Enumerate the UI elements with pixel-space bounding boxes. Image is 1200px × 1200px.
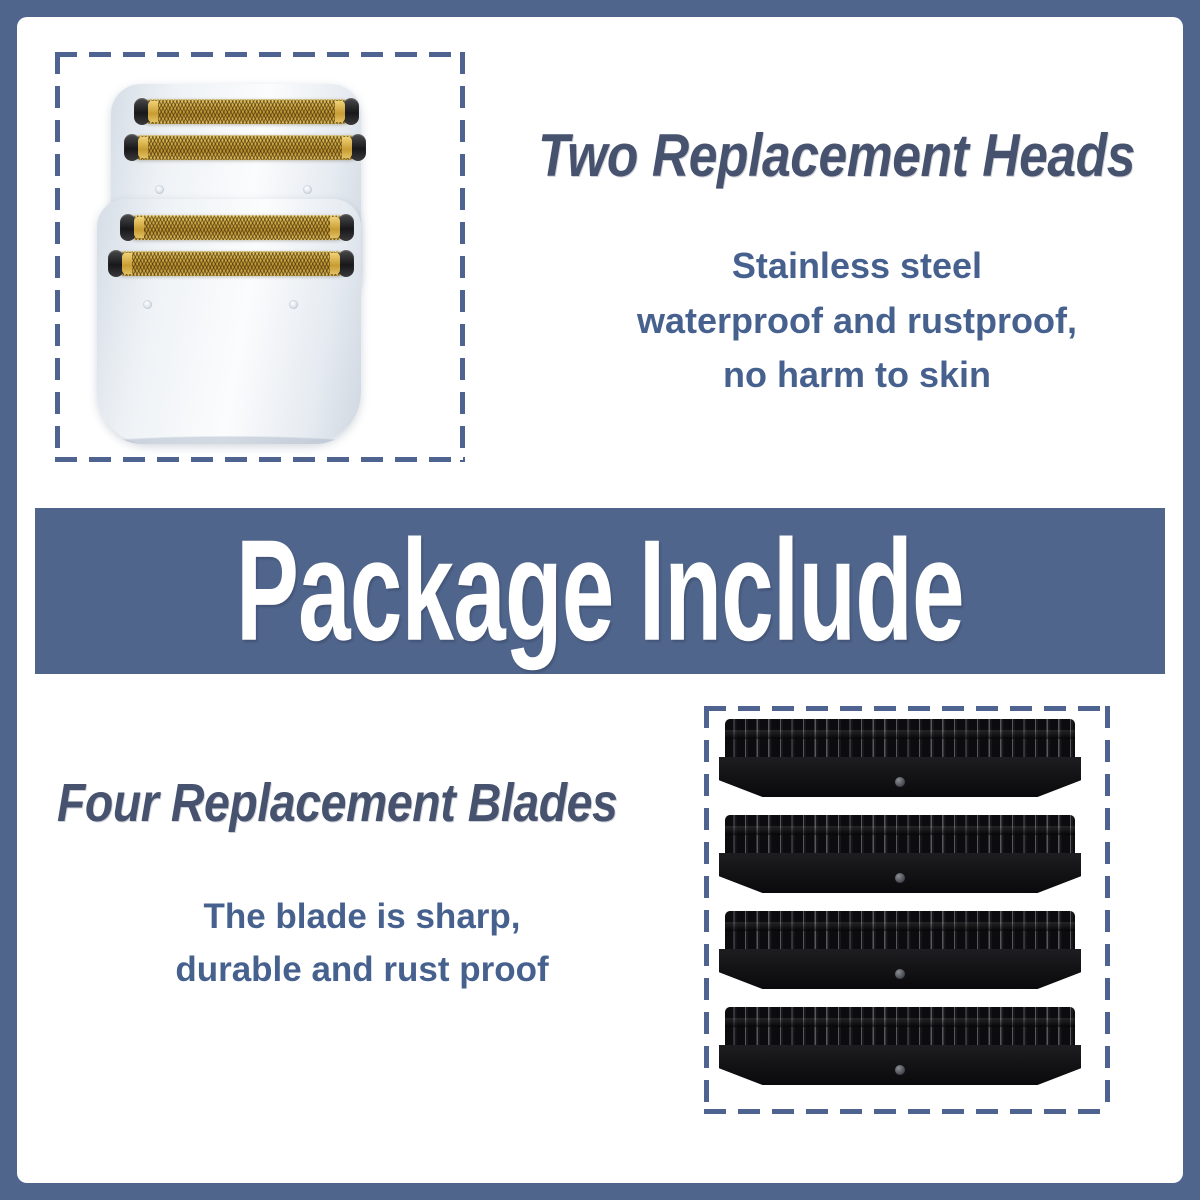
blade-teeth bbox=[725, 815, 1075, 857]
package-include-band: Package Include bbox=[35, 508, 1165, 674]
description-four-replacement-blades: The blade is sharp, durable and rust pro… bbox=[62, 890, 662, 996]
blade-pin bbox=[895, 969, 905, 979]
foil-cap-right bbox=[335, 101, 345, 122]
foil-cap-left bbox=[138, 137, 148, 158]
description-two-replacement-heads: Stainless steel waterproof and rustproof… bbox=[537, 239, 1177, 403]
gold-foil-strip bbox=[139, 99, 354, 124]
head-screw bbox=[155, 185, 164, 194]
description-line: The blade is sharp, bbox=[62, 890, 662, 943]
replacement-blades-product-image bbox=[719, 719, 1097, 1101]
cutter-blade bbox=[719, 815, 1081, 897]
head-screw bbox=[303, 185, 312, 194]
description-line: no harm to skin bbox=[537, 348, 1177, 403]
blade-teeth bbox=[725, 719, 1075, 761]
content-canvas: Two Replacement Heads Stainless steel wa… bbox=[17, 17, 1183, 1183]
blade-pin bbox=[895, 1065, 905, 1075]
gold-foil-strip bbox=[113, 251, 349, 276]
description-line: Stainless steel bbox=[537, 239, 1177, 294]
gold-foil-strip bbox=[125, 215, 349, 240]
foil-cap-left bbox=[134, 217, 144, 238]
cutter-blade bbox=[719, 719, 1081, 801]
band-title: Package Include bbox=[236, 519, 964, 663]
foil-cap-left bbox=[122, 253, 132, 274]
foil-cap-right bbox=[342, 137, 352, 158]
blade-teeth bbox=[725, 1007, 1075, 1049]
heading-two-replacement-heads: Two Replacement Heads bbox=[538, 121, 1135, 190]
description-line: durable and rust proof bbox=[62, 943, 662, 996]
description-line: waterproof and rustproof, bbox=[537, 294, 1177, 349]
heading-four-replacement-blades: Four Replacement Blades bbox=[57, 772, 617, 834]
foil-cap-right bbox=[330, 253, 340, 274]
gold-foil-strip bbox=[129, 135, 361, 160]
cutter-blade bbox=[719, 1007, 1081, 1089]
foil-heads-product-image bbox=[67, 57, 457, 457]
head-screw bbox=[289, 300, 298, 309]
foil-cap-left bbox=[148, 101, 158, 122]
blade-pin bbox=[895, 873, 905, 883]
infographic-page: Two Replacement Heads Stainless steel wa… bbox=[0, 0, 1200, 1200]
cutter-blade bbox=[719, 911, 1081, 993]
blade-pin bbox=[895, 777, 905, 787]
blade-teeth bbox=[725, 911, 1075, 953]
foil-cap-right bbox=[330, 217, 340, 238]
head-screw bbox=[143, 300, 152, 309]
